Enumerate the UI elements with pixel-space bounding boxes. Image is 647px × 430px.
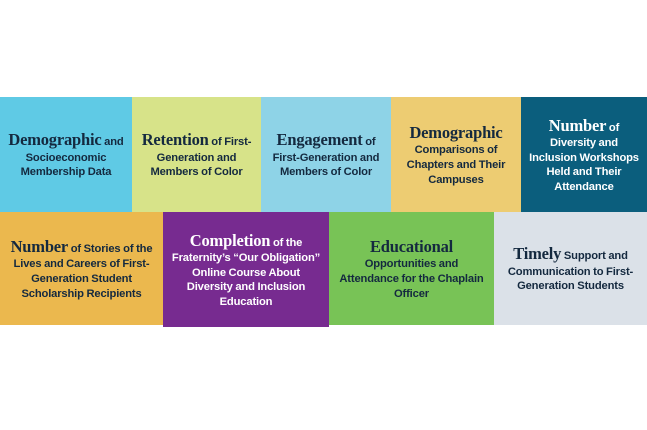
top-row: Demographic and Socioeconomic Membership… [0,97,647,212]
tile-demographic-comparisons[interactable]: Demographic Comparisons of Chapters and … [391,97,521,212]
tile-lead-word: Timely [513,244,561,263]
tile-workshops-number[interactable]: Number of Diversity and Inclusion Worksh… [521,97,647,212]
tile-text: Completion of the Fraternity’s “Our Obli… [169,230,323,310]
tile-lead-word: Retention [142,130,209,149]
tile-rest-text: Opportunities and Attendance for the Cha… [339,258,483,299]
bottom-row: Number of Stories of the Lives and Caree… [0,212,647,327]
tile-educational-opportunities[interactable]: Educational Opportunities and Attendance… [329,212,494,325]
tile-lead-word: Number [11,237,68,256]
tile-text: Demographic and Socioeconomic Membership… [6,129,126,180]
tile-lead-word: Demographic [8,130,101,149]
tile-lead-word: Demographic [409,123,502,142]
tile-engagement[interactable]: Engagement of First-Generation and Membe… [261,97,391,212]
tile-text: Educational Opportunities and Attendance… [335,236,488,301]
tile-lead-word: Number [549,116,606,135]
tile-text: Engagement of First-Generation and Membe… [267,129,385,180]
tile-lead-word: Engagement [277,130,363,149]
tile-lead-word: Completion [190,231,271,250]
tile-text: Demographic Comparisons of Chapters and … [397,122,515,187]
tile-timely-support[interactable]: Timely Support and Communication to Firs… [494,212,647,325]
tile-text: Retention of First-Generation and Member… [138,129,255,180]
tile-rest-text: Comparisons of Chapters and Their Campus… [407,144,506,185]
infographic-container: Demographic and Socioeconomic Membership… [0,97,647,327]
tile-text: Number of Stories of the Lives and Caree… [6,236,157,301]
tile-scholarship-stories[interactable]: Number of Stories of the Lives and Caree… [0,212,163,325]
tile-text: Timely Support and Communication to Firs… [500,243,641,294]
tile-retention[interactable]: Retention of First-Generation and Member… [132,97,261,212]
tile-course-completion[interactable]: Completion of the Fraternity’s “Our Obli… [163,212,329,327]
tile-text: Number of Diversity and Inclusion Worksh… [527,115,641,195]
tile-lead-word: Educational [370,237,453,256]
tile-demographic-membership[interactable]: Demographic and Socioeconomic Membership… [0,97,132,212]
